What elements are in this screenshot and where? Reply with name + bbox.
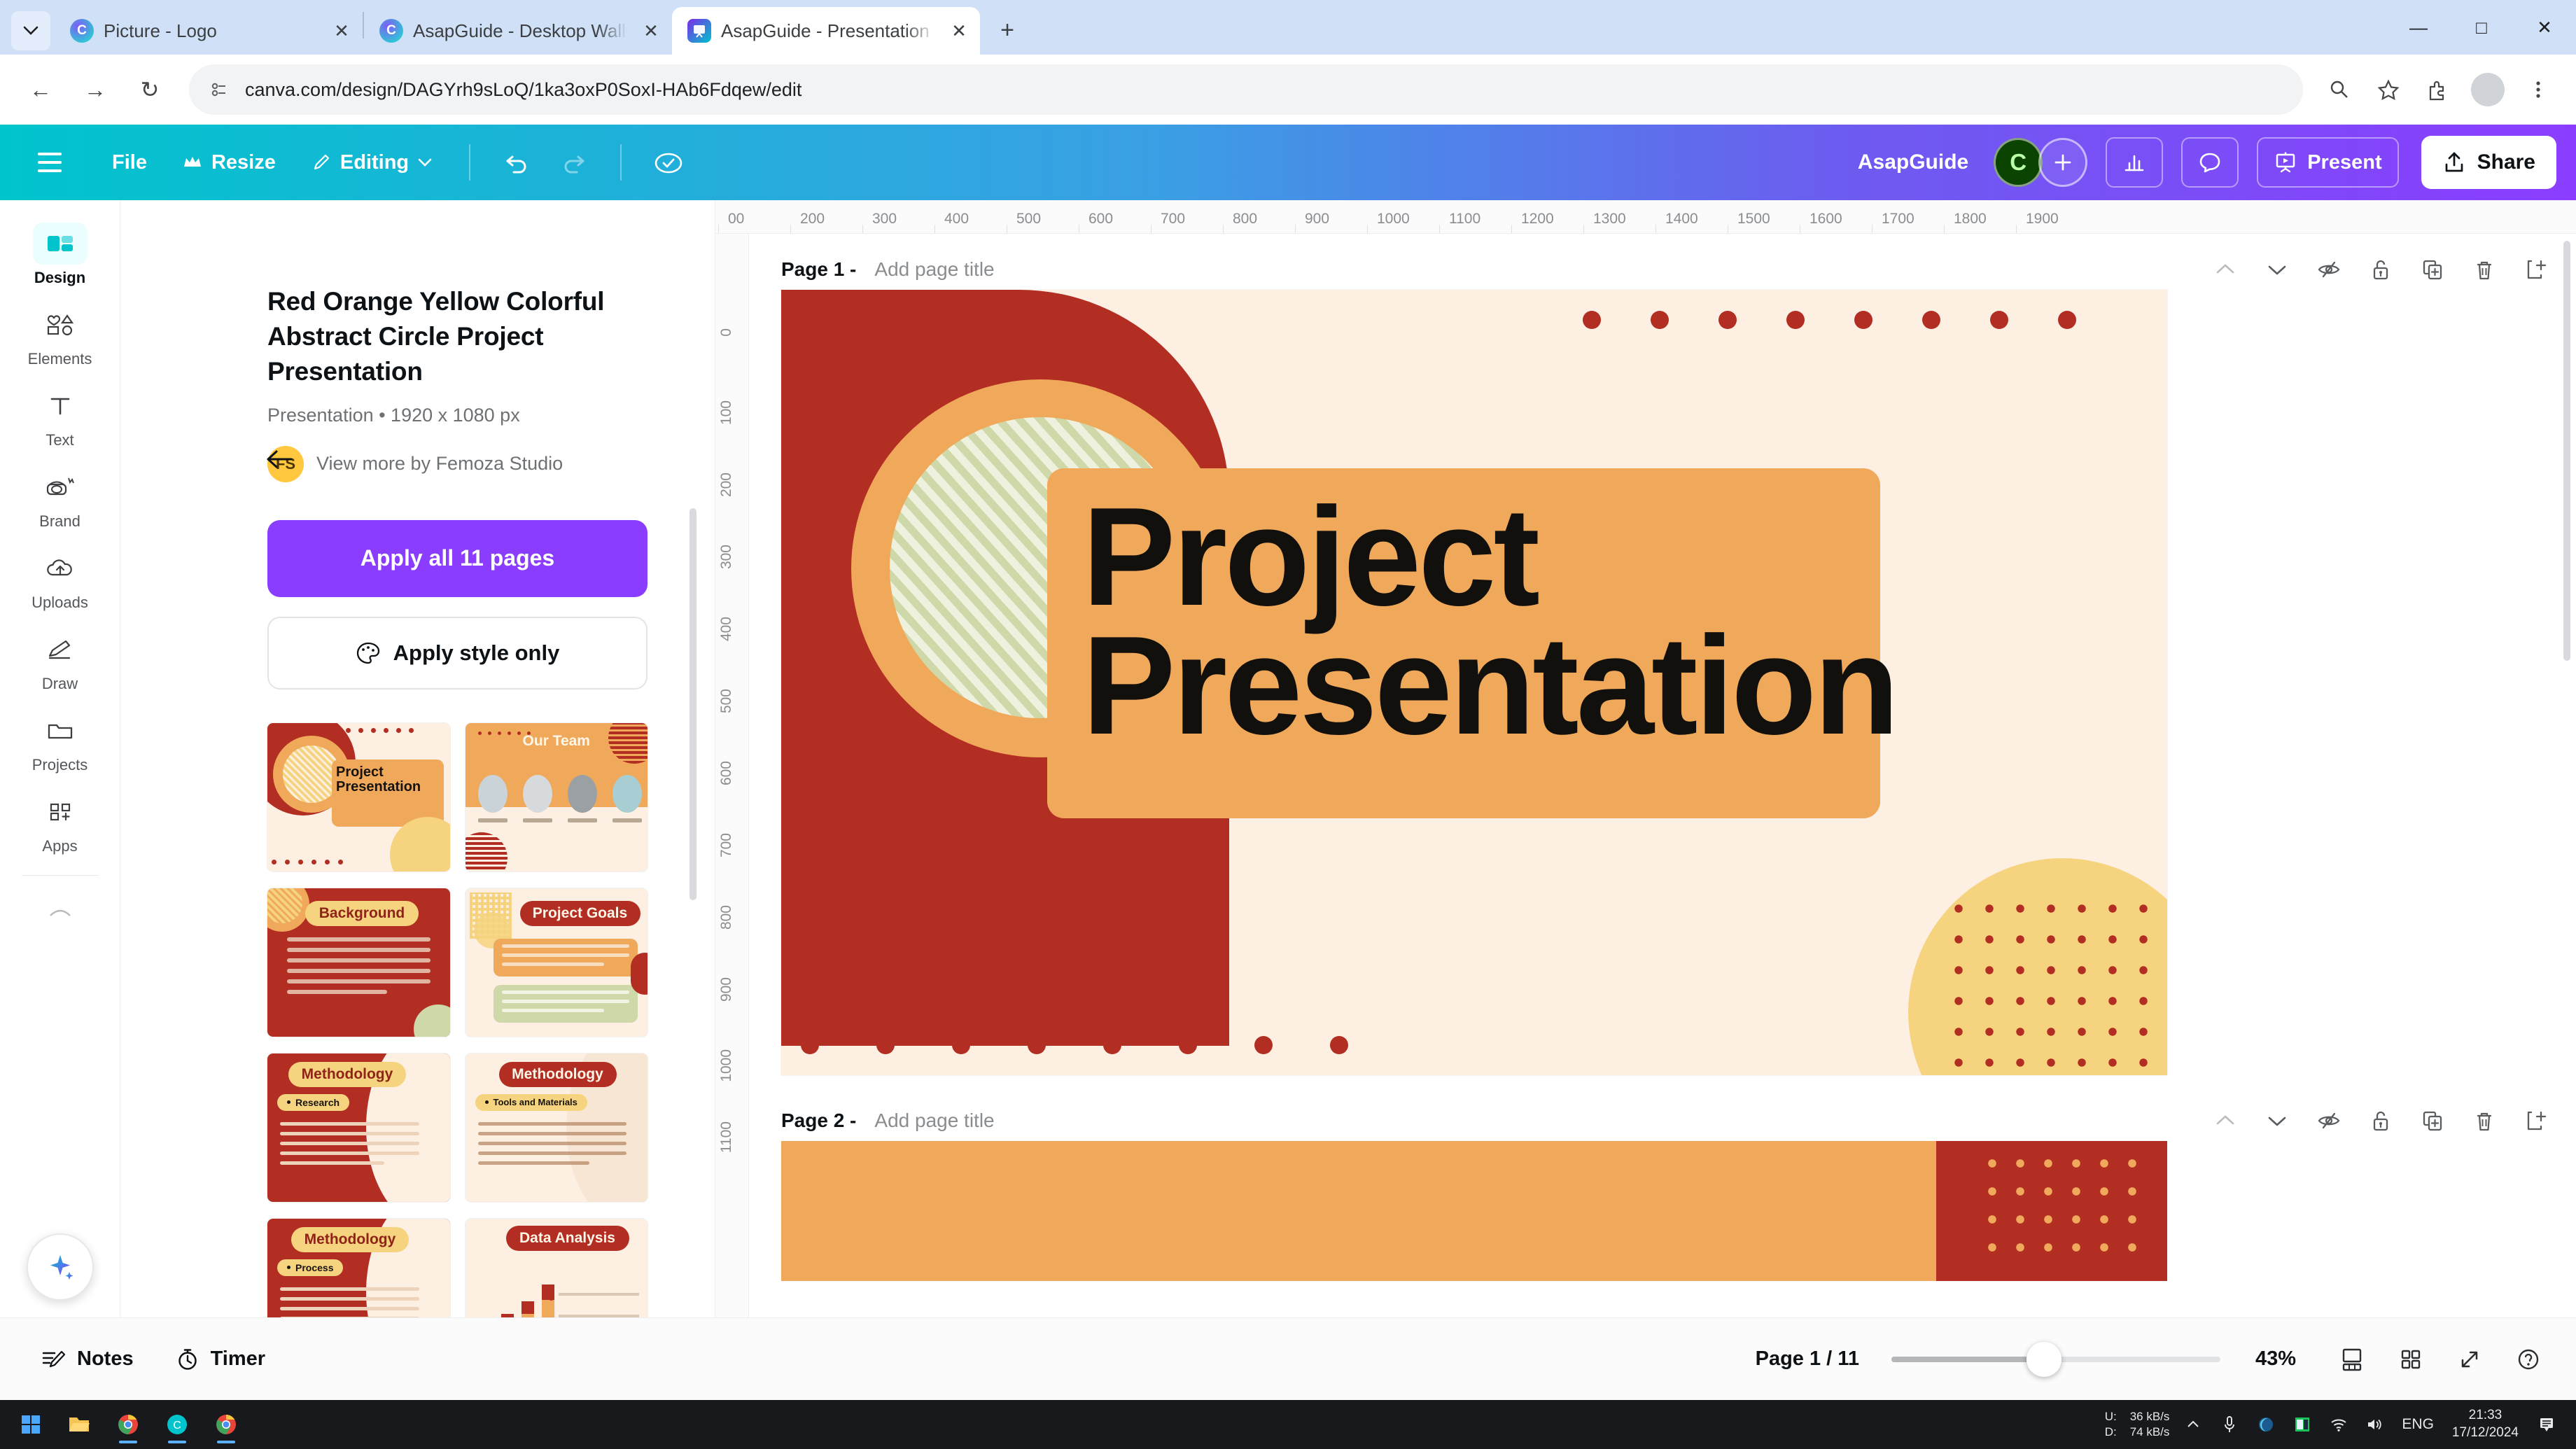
windows-start-icon[interactable]	[11, 1405, 50, 1444]
thumb-title: Our Team	[465, 733, 648, 750]
page-1-label: Page 1 -	[781, 258, 856, 281]
add-page-icon[interactable]	[2516, 249, 2556, 290]
ruler-tick-label: 1800	[1954, 211, 1987, 227]
browser-toolbar: ← → ↻ canva.com/design/DAGYrh9sLoQ/1ka3o…	[0, 55, 2576, 125]
template-thumb-4[interactable]: Methodology Research	[267, 1053, 450, 1202]
ruler-tick-label: 200	[800, 211, 825, 227]
thumb-subtitle: Process	[295, 1262, 333, 1273]
magic-sparkle-icon	[43, 1250, 77, 1284]
rail-label: Elements	[28, 350, 92, 368]
slide-title-line1: Project	[1082, 493, 1852, 622]
slide-page-2[interactable]	[781, 1141, 2167, 1281]
rail-label: Draw	[42, 675, 78, 693]
upload-value: 36 kB/s	[2130, 1409, 2170, 1424]
ruler-tick-label: 1600	[1809, 211, 1842, 227]
move-up-icon[interactable]	[2205, 249, 2246, 290]
ruler-tick-label: 900	[1305, 211, 1329, 227]
ruler-tick-label-v: 300	[718, 545, 735, 569]
microphone-icon[interactable]	[2213, 1406, 2246, 1443]
thumb-title: Project Presentation	[336, 765, 441, 795]
ruler-tick-line	[862, 225, 863, 233]
page-info-icon[interactable]	[207, 78, 231, 101]
editing-mode-dropdown[interactable]: Editing	[297, 139, 447, 185]
template-subtitle: Presentation • 1920 x 1080 px	[267, 405, 647, 426]
hamburger-menu-icon[interactable]	[28, 141, 71, 184]
template-title: Red Orange Yellow Colorful Abstract Circ…	[267, 284, 647, 389]
notes-label: Notes	[77, 1347, 134, 1371]
thumb-title: Data Analysis	[506, 1226, 629, 1251]
rail-item-brand[interactable]: Brand	[7, 459, 113, 536]
bar-chart-icon	[2122, 150, 2146, 174]
thumb-subtitle: Tools and Materials	[493, 1097, 577, 1107]
clock-date: 17/12/2024	[2452, 1424, 2519, 1442]
ruler-tick-line	[2016, 225, 2017, 233]
ruler-tick-line	[1944, 225, 1945, 233]
canva-favicon: C	[70, 19, 94, 43]
toolbar-divider	[469, 144, 470, 181]
fullscreen-icon[interactable]	[2446, 1336, 2493, 1383]
ruler-tick-line	[1151, 225, 1151, 233]
move-down-icon[interactable]	[2257, 249, 2297, 290]
tab-title: AsapGuide - Desktop Wallpape	[413, 20, 627, 42]
add-page-icon[interactable]	[2516, 1100, 2556, 1141]
page-2-header: Page 2 - Add page title	[749, 1100, 2576, 1141]
ruler-tick-label-v: 500	[718, 689, 735, 713]
window-close-button[interactable]: ✕	[2513, 0, 2576, 55]
download-value: 74 kB/s	[2130, 1424, 2170, 1440]
move-down-icon[interactable]	[2257, 1100, 2297, 1141]
clock[interactable]: 21:33 17/12/2024	[2452, 1407, 2519, 1441]
volume-icon[interactable]	[2359, 1406, 2391, 1443]
text-t-icon	[33, 385, 87, 427]
undo-arrow-icon[interactable]	[493, 138, 542, 187]
editing-label: Editing	[340, 151, 409, 174]
notes-icon	[41, 1347, 66, 1371]
ruler-tick-label-v: 200	[718, 472, 735, 497]
ruler-tick-label: 500	[1016, 211, 1041, 227]
chevron-down-icon	[417, 157, 433, 167]
extensions-icon[interactable]	[2415, 67, 2460, 112]
present-label: Present	[2307, 151, 2381, 174]
rail-label: Design	[34, 269, 85, 287]
rail-label: Text	[45, 431, 73, 449]
chevron-down-icon	[23, 26, 38, 36]
download-key: D:	[2105, 1424, 2123, 1440]
ruler-tick-line	[1223, 225, 1224, 233]
resize-label: Resize	[211, 151, 276, 174]
new-tab-button[interactable]: +	[988, 11, 1026, 49]
template-thumb-2[interactable]: Background	[267, 888, 450, 1037]
language-indicator[interactable]: ENG	[2402, 1416, 2434, 1433]
more-menu-icon[interactable]	[2516, 67, 2561, 112]
canva-favicon: C	[379, 19, 403, 43]
ruler-tick-line	[1007, 225, 1007, 233]
rail-label: Uploads	[31, 594, 88, 612]
ruler-tick-line	[1511, 225, 1512, 233]
ruler-tick-label: 1200	[1521, 211, 1554, 227]
ruler-tick-line	[718, 225, 719, 233]
reload-button[interactable]: ↻	[125, 64, 175, 115]
panel-back-button[interactable]	[259, 438, 301, 480]
timer-label: Timer	[211, 1347, 265, 1371]
thumb-subtitle: Research	[295, 1097, 339, 1108]
ruler-tick-line	[1367, 225, 1368, 233]
ruler-tick-line	[1728, 225, 1728, 233]
ruler-tick-label-v: 100	[718, 400, 735, 425]
ruler-tick-line	[934, 225, 935, 233]
pencil-icon	[311, 152, 332, 173]
ruler-tick-label: 1900	[2026, 211, 2059, 227]
move-up-icon[interactable]	[2205, 1100, 2246, 1141]
shapes-elements-icon	[33, 304, 87, 346]
rail-item-design[interactable]: Design	[7, 216, 113, 293]
timer-icon	[176, 1347, 199, 1371]
thumb-title: Background	[305, 901, 419, 926]
add-member-button[interactable]	[2038, 138, 2087, 187]
editor-body: Design Elements Text Brand Uploads	[0, 200, 2576, 1317]
design-layout-icon	[33, 223, 87, 265]
template-thumbnail-grid: Project Presentation Our Team	[267, 723, 647, 1317]
apply-style-only-button[interactable]: Apply style only	[267, 617, 647, 689]
page-1-header: Page 1 - Add page title	[749, 249, 2576, 290]
page-2-label: Page 2 -	[781, 1109, 856, 1132]
upload-key: U:	[2105, 1409, 2123, 1424]
duplicate-page-icon[interactable]	[2412, 249, 2453, 290]
delete-page-icon[interactable]	[2464, 249, 2505, 290]
ruler-tick-line	[790, 225, 791, 233]
tab-close-icon[interactable]: ✕	[945, 17, 973, 45]
hide-page-icon[interactable]	[2309, 1100, 2349, 1141]
clock-time: 21:33	[2469, 1407, 2502, 1424]
present-button[interactable]: Present	[2257, 137, 2398, 188]
ruler-tick-line	[1079, 225, 1079, 233]
share-label: Share	[2477, 150, 2535, 174]
apply-style-label: Apply style only	[393, 640, 560, 666]
share-button[interactable]: Share	[2421, 136, 2556, 189]
rail-item-uploads[interactable]: Uploads	[7, 540, 113, 617]
template-author[interactable]: FS View more by Femoza Studio	[267, 446, 647, 482]
crown-icon	[182, 154, 203, 171]
template-thumb-7[interactable]: Data Analysis	[465, 1219, 648, 1317]
pencil-draw-icon	[33, 629, 87, 671]
template-thumb-6[interactable]: Methodology Process	[267, 1219, 450, 1317]
bookmark-star-icon[interactable]	[2366, 67, 2411, 112]
grid-view-icon[interactable]	[2387, 1336, 2435, 1383]
chrome-active-icon[interactable]	[204, 1404, 248, 1445]
ruler-tick-label: 400	[944, 211, 969, 227]
moon-icon[interactable]	[2250, 1406, 2282, 1443]
ruler-tick-line	[1872, 225, 1872, 233]
back-button[interactable]: ←	[15, 64, 66, 115]
tab-close-icon[interactable]: ✕	[637, 17, 665, 45]
ruler-tick-label: 700	[1161, 211, 1185, 227]
ruler-tick-label: 1000	[1377, 211, 1410, 227]
template-thumb-0[interactable]: Project Presentation	[267, 723, 450, 871]
ruler-tick-label: 00	[728, 211, 744, 227]
resize-button[interactable]: Resize	[168, 139, 290, 185]
ruler-tick-label-v: 1000	[718, 1049, 735, 1082]
side-panel-scrollbar[interactable]	[689, 508, 696, 900]
window-maximize-button[interactable]: □	[2450, 0, 2513, 55]
plus-icon	[2052, 152, 2073, 173]
slide-title-line2: Presentation	[1082, 622, 1852, 750]
ruler-tick-line	[1583, 225, 1584, 233]
hide-page-icon[interactable]	[2309, 249, 2349, 290]
speech-bubble-icon	[2198, 150, 2222, 174]
ruler-tick-label-v: 700	[718, 833, 735, 857]
lock-page-icon[interactable]	[2360, 1100, 2401, 1141]
zoom-slider[interactable]	[1891, 1354, 2220, 1364]
window-minimize-button[interactable]: —	[2387, 0, 2450, 55]
page-1-title-placeholder[interactable]: Add page title	[874, 258, 994, 281]
ruler-tick-label: 1400	[1665, 211, 1698, 227]
tab-title: Picture - Logo	[104, 20, 318, 42]
browser-tab-1[interactable]: C AsapGuide - Desktop Wallpape ✕	[364, 7, 672, 55]
tab-title: AsapGuide - Presentation - Can	[721, 20, 935, 42]
ruler-tick-label-v: 1100	[718, 1121, 735, 1153]
canvas-scroll-region[interactable]: Page 1 - Add page title	[749, 234, 2576, 1317]
chevron-up-icon[interactable]	[2177, 1406, 2209, 1443]
toolbar-divider-2	[620, 144, 622, 181]
browser-tab-0[interactable]: C Picture - Logo ✕	[55, 7, 363, 55]
ruler-tick-label: 1300	[1593, 211, 1626, 227]
cloud-check-icon[interactable]	[644, 138, 693, 187]
delete-page-icon[interactable]	[2464, 1100, 2505, 1141]
ruler-tick-label: 1100	[1449, 211, 1480, 227]
upload-share-icon	[2442, 150, 2466, 174]
help-icon[interactable]	[2505, 1336, 2552, 1383]
vertical-ruler: 010020030040050060070080090010001100	[715, 234, 749, 1317]
slide-page-1[interactable]: Project Presentation	[781, 290, 2167, 1075]
ruler-tick-label: 600	[1088, 211, 1113, 227]
address-bar[interactable]: canva.com/design/DAGYrh9sLoQ/1ka3oxP0Sox…	[189, 64, 2303, 115]
brand-name-label: AsapGuide	[1858, 150, 1968, 174]
brand-kit-icon	[33, 466, 87, 508]
canva-top-bar: File Resize Editing AsapGuide C Present …	[0, 125, 2576, 200]
network-speed-indicator: U:36 kB/s D:74 kB/s	[2105, 1409, 2170, 1440]
comment-button[interactable]	[2181, 137, 2239, 188]
thumb-title: Project Goals	[520, 901, 640, 926]
canva-icon[interactable]: C	[155, 1404, 199, 1445]
wifi-icon[interactable]	[2323, 1406, 2355, 1443]
folder-icon	[33, 710, 87, 752]
tab-search-dropdown[interactable]	[11, 11, 50, 50]
chrome-icon[interactable]	[106, 1404, 150, 1445]
ruler-tick-label: 1700	[1882, 211, 1914, 227]
page-counter: Page 1 / 11	[1756, 1347, 1859, 1371]
horizontal-ruler: 0020030040050060070080090010001100120013…	[715, 200, 2576, 234]
url-text: canva.com/design/DAGYrh9sLoQ/1ka3oxP0Sox…	[245, 79, 801, 101]
redo-arrow-icon[interactable]	[549, 138, 598, 187]
tab-close-icon[interactable]: ✕	[328, 17, 356, 45]
rail-item-more[interactable]	[7, 884, 113, 939]
zoom-knob[interactable]	[2026, 1342, 2061, 1377]
timer-button[interactable]: Timer	[160, 1333, 281, 1385]
window-controls: — □ ✕	[2387, 0, 2576, 55]
zoom-fill	[1891, 1357, 2036, 1362]
more-chevron-icon	[33, 891, 87, 933]
rail-label: Apps	[42, 837, 77, 855]
canvas-scrollbar[interactable]	[2563, 241, 2570, 661]
ruler-tick-label-v: 600	[718, 761, 735, 785]
cloud-upload-icon	[33, 547, 87, 589]
notification-icon[interactable]	[2530, 1406, 2563, 1443]
author-link-label: View more by Femoza Studio	[316, 453, 563, 475]
template-thumb-1[interactable]: Our Team	[465, 723, 648, 871]
presentation-screen-icon	[2274, 150, 2297, 174]
apply-all-pages-button[interactable]: Apply all 11 pages	[267, 520, 647, 597]
browser-tab-2-active[interactable]: AsapGuide - Presentation - Can ✕	[672, 7, 980, 55]
notes-button[interactable]: Notes	[25, 1333, 149, 1385]
insights-button[interactable]	[2106, 137, 2163, 188]
ruler-tick-label-v: 0	[718, 328, 735, 337]
zoom-icon[interactable]	[2317, 67, 2362, 112]
windows-taskbar: C U:36 kB/s D:74 kB/s ENG 21:33 17/12/20…	[0, 1400, 2576, 1449]
editor-bottom-bar: Notes Timer Page 1 / 11 43%	[0, 1317, 2576, 1400]
tool-rail: Design Elements Text Brand Uploads	[0, 200, 120, 1317]
browser-tab-strip: C Picture - Logo ✕ C AsapGuide - Desktop…	[0, 0, 2576, 55]
ruler-tick-line	[1800, 225, 1800, 233]
magic-studio-button[interactable]	[27, 1233, 94, 1301]
rail-item-elements[interactable]: Elements	[7, 297, 113, 374]
duplicate-page-icon[interactable]	[2412, 1100, 2453, 1141]
ruler-tick-line	[1655, 225, 1656, 233]
ruler-tick-label-v: 800	[718, 905, 735, 930]
ruler-tick-line	[1295, 225, 1296, 233]
rail-item-apps[interactable]: Apps	[7, 784, 113, 861]
apps-grid-icon	[33, 791, 87, 833]
canvas-area: 0020030040050060070080090010001100120013…	[715, 200, 2576, 1317]
thumb-title: Methodology	[499, 1062, 617, 1087]
user-avatar[interactable]: C	[1994, 138, 2043, 187]
template-thumb-3[interactable]: Project Goals	[465, 888, 648, 1037]
rail-item-draw[interactable]: Draw	[7, 622, 113, 699]
svg-text:C: C	[173, 1420, 181, 1431]
thumb-title: Methodology	[291, 1227, 409, 1252]
ruler-tick-label: 300	[872, 211, 897, 227]
presentation-glyph-icon	[692, 23, 707, 38]
forward-button[interactable]: →	[70, 64, 120, 115]
browser-profile-avatar[interactable]	[2471, 73, 2505, 106]
ruler-tick-label: 800	[1233, 211, 1257, 227]
ruler-tick-line	[1439, 225, 1440, 233]
rail-item-projects[interactable]: Projects	[7, 703, 113, 780]
template-thumb-5[interactable]: Methodology Tools and Materials	[465, 1053, 648, 1202]
lock-page-icon[interactable]	[2360, 249, 2401, 290]
palette-icon	[356, 640, 381, 666]
rail-item-text[interactable]: Text	[7, 378, 113, 455]
file-explorer-icon[interactable]	[57, 1404, 101, 1445]
page-2-title-placeholder[interactable]: Add page title	[874, 1109, 994, 1132]
thumb-title: Methodology	[288, 1062, 406, 1087]
ruler-tick-label: 1500	[1737, 211, 1770, 227]
rail-label: Projects	[32, 756, 87, 774]
ruler-tick-label-v: 400	[718, 617, 735, 641]
zoom-level-label[interactable]: 43%	[2255, 1347, 2296, 1371]
canva-presentation-favicon	[687, 19, 711, 43]
file-menu-button[interactable]: File	[98, 139, 161, 185]
ruler-tick-label-v: 900	[718, 977, 735, 1002]
design-side-panel: Red Orange Yellow Colorful Abstract Circ…	[120, 200, 715, 1317]
rail-label: Brand	[39, 512, 80, 531]
page-view-icon[interactable]	[2328, 1336, 2376, 1383]
file-menu-label: File	[112, 151, 147, 174]
rail-divider	[22, 875, 99, 876]
app-tray-icon[interactable]	[2286, 1406, 2318, 1443]
